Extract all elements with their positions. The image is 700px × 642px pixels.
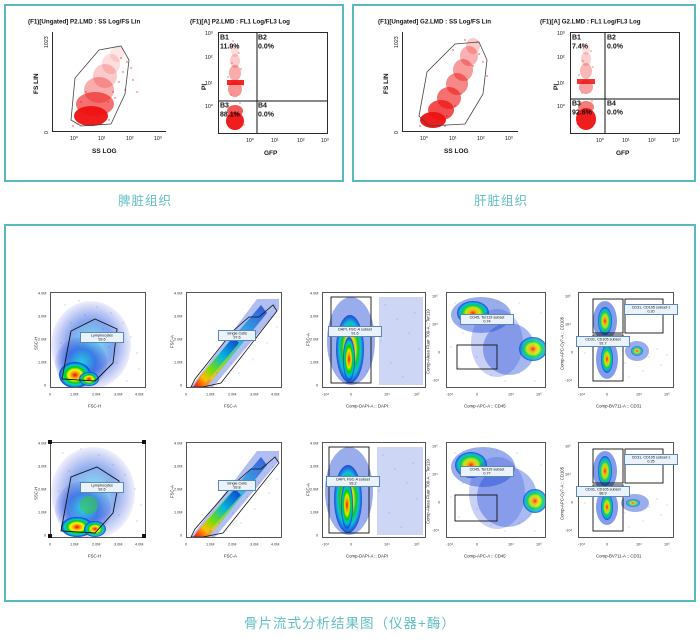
x-tick: -10⁴ [322, 392, 329, 397]
y-tick: 2.0M [174, 337, 182, 342]
y-tick: 4.0M [174, 291, 182, 296]
y-tick: -10⁴ [565, 378, 572, 383]
quadrant-label-b2: B2 [258, 34, 267, 42]
x-tick: -10⁴ [578, 542, 585, 547]
y-tick: 1.0M [310, 510, 318, 515]
plot-area [446, 292, 546, 388]
density-canvas [447, 293, 546, 388]
y-tick: 3.0M [310, 314, 318, 319]
quadrant-label-b3: B3 [572, 100, 581, 108]
x-tick: 1.0M [70, 542, 78, 547]
gate-tag-lymphocytes[interactable]: Lymphocytes 92.6 [80, 482, 124, 493]
gate-value: 88.9 [576, 491, 631, 496]
gate-value: 93.8 [218, 485, 255, 490]
plot-spleen-quadrant[interactable]: (F1)[A] P2.LMD : FL1 Log/FL3 Log [178, 6, 346, 180]
x-tick: -10⁴ [446, 542, 453, 547]
y-tick: 0 [316, 533, 318, 538]
quadrant-value-b3: 88.1% [220, 111, 240, 119]
y-tick: 1.0M [38, 510, 46, 515]
y-tick: 3.0M [38, 464, 46, 469]
plot-bone-r1c2[interactable]: Single Cells 97.6 FSC-A 4.0M 3.0M 2.0M 1… [164, 288, 292, 418]
x-tick: 10² [126, 135, 134, 141]
y-tick: 1.0M [38, 360, 46, 365]
x-tick: 10⁴ [636, 542, 642, 547]
y-tick: 0 [316, 383, 318, 388]
x-tick: 0 [185, 392, 187, 397]
x-tick: 0 [606, 392, 608, 397]
y-tick: 10⁵ [432, 294, 438, 299]
y-tick: -10⁴ [432, 528, 439, 533]
plot-area [52, 32, 166, 132]
x-axis-label: FSC-A [224, 404, 237, 409]
x-tick: 4.0M [135, 392, 143, 397]
x-axis-label: FSC-H [88, 554, 101, 559]
x-tick: 10⁰ [70, 135, 78, 141]
x-tick: 10³ [321, 137, 329, 143]
y-tick: 1.0M [310, 360, 318, 365]
caption-bone-flow: 骨片流式分析结果图（仪器+酶） [0, 612, 700, 632]
x-tick: 0 [606, 542, 608, 547]
x-tick: 10⁴ [384, 392, 390, 397]
x-tick: 1.0M [70, 392, 78, 397]
y-tick: 10⁵ [565, 444, 571, 449]
x-tick: -10⁴ [322, 542, 329, 547]
x-tick: 10⁵ [414, 392, 420, 397]
quadrant-value-b2: 0.0% [258, 43, 274, 51]
x-tick: 3.0M [250, 542, 258, 547]
y-tick: 10¹ [557, 80, 565, 86]
quadrant-label-b1: B1 [220, 34, 229, 42]
y-tick: 10² [557, 54, 565, 60]
density-canvas [323, 293, 426, 388]
quadrant-label-b2: B2 [607, 34, 616, 42]
selection-handle-tr[interactable] [142, 440, 146, 444]
y-tick: 10² [205, 54, 213, 60]
y-tick: 0 [44, 533, 46, 538]
y-tick: 2.0M [38, 337, 46, 342]
y-tick: 10⁵ [432, 444, 438, 449]
gate-tag-cd31-cd105-subset-1[interactable]: CD31, CD105 subset-1 0.20 [624, 304, 678, 315]
x-tick: 2.0M [228, 392, 236, 397]
plot-area [446, 442, 546, 538]
x-tick: 10¹ [271, 137, 279, 143]
y-tick: 1.0M [174, 360, 182, 365]
y-tick: 1023 [43, 36, 49, 48]
plot-bone-r1c5[interactable]: CD31, CD105 subset-1 0.20 CD31, CD105 su… [554, 288, 682, 418]
y-tick: 0 [44, 383, 46, 388]
y-tick: 10⁰ [205, 103, 213, 109]
y-tick: 0 [571, 500, 573, 505]
x-axis-label: FSC-A [224, 554, 237, 559]
x-tick: 10¹ [449, 135, 457, 141]
gate-tag-cd45-ter119-subset[interactable]: CD45, Ter119 subset 0.77 [460, 466, 514, 477]
y-tick: 10⁰ [557, 103, 565, 109]
quadrant-label-b4: B4 [607, 100, 616, 108]
density-canvas [187, 443, 282, 538]
y-tick: 2.0M [310, 337, 318, 342]
y-tick: 2.0M [38, 487, 46, 492]
y-tick: -10⁴ [432, 378, 439, 383]
x-axis-label: Comp-APC-A :: CD45 [464, 404, 506, 409]
y-tick: 10⁴ [432, 472, 438, 477]
x-tick: 3.0M [250, 392, 258, 397]
x-tick: 0 [185, 542, 187, 547]
gate-value: 93.6 [80, 337, 124, 342]
gate-tag-single-cells[interactable]: Single Cells 93.8 [218, 480, 256, 491]
caption-liver: 肝脏组织 [474, 190, 528, 209]
y-tick: 4.0M [38, 291, 46, 296]
y-tick: 0 [43, 131, 49, 134]
plot-liver-quadrant[interactable]: (F1)[A] G2.LMD : FL1 Log/FL3 Log [530, 6, 698, 180]
x-tick: 10⁰ [246, 137, 254, 143]
scatter-canvas [403, 32, 518, 132]
y-tick: 0 [180, 533, 182, 538]
x-tick: 10¹ [622, 137, 630, 143]
panel-liver: (F1)[Ungated] G2.LMD : SS Log/FS Lin [352, 4, 696, 182]
quadrant-value-b3: 92.6% [572, 109, 592, 117]
x-tick: 4.0M [271, 392, 279, 397]
y-tick: 3.0M [310, 464, 318, 469]
scatter-canvas [53, 32, 166, 132]
quadrant-value-b4: 0.0% [607, 109, 623, 117]
plot-area [322, 442, 426, 538]
x-tick: 10⁴ [508, 542, 514, 547]
x-tick: 10² [297, 137, 305, 143]
x-tick: 10⁰ [596, 137, 604, 143]
density-canvas [187, 293, 282, 388]
x-tick: 10² [648, 137, 656, 143]
plot-spleen-scatter[interactable]: (F1)[Ungated] P2.LMD : SS Log/FS Lin [6, 6, 178, 180]
y-tick: 1.0M [174, 510, 182, 515]
gate-value: 0.77 [460, 471, 515, 476]
y-tick: 10⁴ [565, 322, 571, 327]
y-tick: 0 [438, 500, 440, 505]
selection-handle-br[interactable] [142, 534, 146, 538]
gate-value: 0.20 [624, 309, 679, 314]
y-tick: 1023 [393, 36, 399, 48]
y-tick: 4.0M [310, 291, 318, 296]
x-axis-label: GFP [264, 150, 277, 158]
quadrant-label-b4: B4 [258, 102, 267, 110]
x-axis-label: SS LOG [92, 148, 117, 156]
quadrant-value-b1: 11.9% [220, 43, 239, 51]
plot-title: (F1)[Ungated] P2.LMD : SS Log/FS Lin [28, 18, 140, 25]
x-tick: 0 [476, 392, 478, 397]
x-tick: 10⁰ [420, 135, 428, 141]
plot-bone-r2c2[interactable]: Single Cells 93.8 FSC-A 4.0M 3.0M 2.0M 1… [164, 438, 292, 568]
y-axis-label: FS LIN [383, 73, 391, 94]
x-tick: 10⁴ [636, 392, 642, 397]
x-tick: 0 [49, 542, 51, 547]
plot-bone-r2c1[interactable]: Lymphocytes 92.6 SSC-H 4.0M 3.0M 2.0M 1.… [28, 438, 156, 568]
x-tick: 10⁵ [664, 392, 670, 397]
quadrant-value-b4: 0.0% [258, 111, 274, 119]
plot-bone-r1c4[interactable]: CD45, Ter119 subset 0.74 Comp-Alexa Fluo… [420, 288, 556, 418]
x-tick: 0 [476, 542, 478, 547]
x-tick: 0 [350, 542, 352, 547]
x-axis-label: Comp-BV711-A :: CD31 [596, 404, 641, 409]
plot-title: (F1)[A] P2.LMD : FL1 Log/FL3 Log [190, 18, 290, 25]
y-tick: 0 [571, 350, 573, 355]
x-tick: 2.0M [92, 392, 100, 397]
y-tick: 10⁴ [432, 322, 438, 327]
gate-value: 0.25 [624, 459, 679, 464]
gate-value: 97.6 [218, 335, 255, 340]
quadrant-value-b1: 7.4% [572, 43, 588, 51]
selection-handle-bl[interactable] [48, 534, 52, 538]
x-tick: 10⁵ [536, 542, 542, 547]
y-tick: 0 [438, 350, 440, 355]
plot-bone-r2c5[interactable]: CD31, CD105 subset-1 0.25 CD31, CD105 su… [554, 438, 682, 568]
plot-bone-r1c1[interactable]: Lymphocytes 93.6 SSC-H 4.0M 3.0M 2.0M 1.… [28, 288, 156, 418]
caption-spleen: 脾脏组织 [118, 190, 172, 209]
x-tick: -10⁴ [578, 392, 585, 397]
gate-tag-cd31-cd105-subset-1[interactable]: CD31, CD105 subset-1 0.25 [624, 454, 678, 465]
x-tick: 2.0M [228, 542, 236, 547]
x-tick: 10³ [505, 135, 513, 141]
gate-value: 0.74 [460, 319, 515, 324]
y-tick: 10⁵ [565, 294, 571, 299]
x-tick: 1.0M [206, 392, 214, 397]
plot-liver-scatter[interactable]: (F1)[Ungated] G2.LMD : SS Log/FS Lin [354, 6, 530, 180]
y-tick: 4.0M [310, 441, 318, 446]
x-axis-label: Comp-APC-A :: CD45 [464, 554, 506, 559]
gate-tag-cd31-cd105-subset[interactable]: CD31, CD105 subset 92.7 [576, 336, 630, 347]
density-canvas [447, 443, 546, 538]
selection-handle-tl[interactable] [48, 440, 52, 444]
plot-area [322, 292, 426, 388]
x-tick: 10⁴ [384, 542, 390, 547]
y-tick: 4.0M [38, 441, 46, 446]
panel-bone-flow: Lymphocytes 93.6 SSC-H 4.0M 3.0M 2.0M 1.… [4, 224, 696, 602]
x-tick: 10⁵ [414, 542, 420, 547]
y-tick: 0 [180, 383, 182, 388]
gate-value: 93.2 [326, 481, 381, 486]
y-tick: 0 [393, 131, 399, 134]
x-tick: 10⁴ [508, 392, 514, 397]
quadrant-value-b2: 0.0% [607, 43, 623, 51]
plot-bone-r2c4[interactable]: CD45, Ter119 subset 0.77 Comp-Alexa Fluo… [420, 438, 556, 568]
x-tick: 10³ [672, 137, 680, 143]
gate-value: 92.6 [80, 487, 124, 492]
x-tick: -10⁴ [446, 392, 453, 397]
y-tick: 3.0M [174, 314, 182, 319]
plot-title: (F1)[Ungated] G2.LMD : SS Log/FS Lin [378, 18, 491, 25]
plot-area [402, 32, 518, 132]
x-tick: 10⁵ [536, 392, 542, 397]
x-tick: 10³ [154, 135, 162, 141]
x-axis-label: Comp-DAPI-A :: DAPI [346, 404, 388, 409]
y-tick: -10⁴ [565, 528, 572, 533]
plot-bone-r1c3[interactable]: DAPI, FSC-A subset 91.6 FSC-A 4.0M 3.0M … [300, 288, 436, 418]
gate-tag-single-cells[interactable]: Single Cells 97.6 [218, 330, 256, 341]
y-tick: 4.0M [174, 441, 182, 446]
y-tick: 10³ [557, 30, 565, 36]
y-tick: 3.0M [174, 464, 182, 469]
x-tick: 3.0M [114, 542, 122, 547]
y-axis-label: Comp-Alexa Fluor 700-A :: Ter119 [426, 459, 431, 524]
gate-value: 92.7 [576, 341, 631, 346]
x-tick: 10¹ [98, 135, 106, 141]
y-tick: 2.0M [174, 487, 182, 492]
y-axis-label: Comp-Alexa Fluor 700-A :: Ter119 [426, 309, 431, 374]
x-tick: 3.0M [114, 392, 122, 397]
panel-spleen: (F1)[Ungated] P2.LMD : SS Log/FS Lin [4, 4, 344, 182]
gate-tag-cd31-cd105-subset[interactable]: CD31, CD105 subset 88.9 [576, 486, 630, 497]
density-canvas [323, 443, 426, 538]
x-tick: 10⁵ [664, 542, 670, 547]
y-tick: 3.0M [38, 314, 46, 319]
x-tick: 1.0M [206, 542, 214, 547]
y-tick: 10⁴ [565, 472, 571, 477]
x-axis-label: FSC-H [88, 404, 101, 409]
x-axis-label: Comp-BV711-A :: CD31 [596, 554, 641, 559]
plot-title: (F1)[A] G2.LMD : FL1 Log/FL3 Log [540, 18, 641, 25]
gate-tag-lymphocytes[interactable]: Lymphocytes 93.6 [80, 332, 124, 343]
plot-bone-r2c3[interactable]: DAPI, FSC-A subset 93.2 FSC-A 4.0M 3.0M … [300, 438, 436, 568]
gate-tag-dapi-fsc-subset[interactable]: DAPI, FSC-A subset 91.6 [328, 326, 382, 337]
x-axis-label: GFP [616, 150, 629, 158]
y-tick: 2.0M [310, 487, 318, 492]
x-tick: 0 [49, 392, 51, 397]
y-tick: 10³ [205, 30, 213, 36]
y-tick: 10¹ [205, 80, 213, 86]
x-tick: 0 [350, 392, 352, 397]
gate-value: 91.6 [328, 331, 383, 336]
x-axis-label: Comp-DAPI-A :: DAPI [346, 554, 388, 559]
y-axis-label: FS LIN [33, 73, 41, 94]
quadrant-label-b3: B3 [220, 102, 229, 110]
x-tick: 4.0M [271, 542, 279, 547]
x-tick: 4.0M [135, 542, 143, 547]
gate-tag-dapi-fsc-subset[interactable]: DAPI, FSC-A subset 93.2 [326, 476, 380, 487]
x-tick: 2.0M [92, 542, 100, 547]
x-axis-label: SS LOG [444, 148, 469, 156]
gate-tag-cd45-ter119-subset[interactable]: CD45, Ter119 subset 0.74 [460, 314, 514, 325]
x-tick: 10² [477, 135, 485, 141]
quadrant-label-b1: B1 [572, 34, 581, 42]
